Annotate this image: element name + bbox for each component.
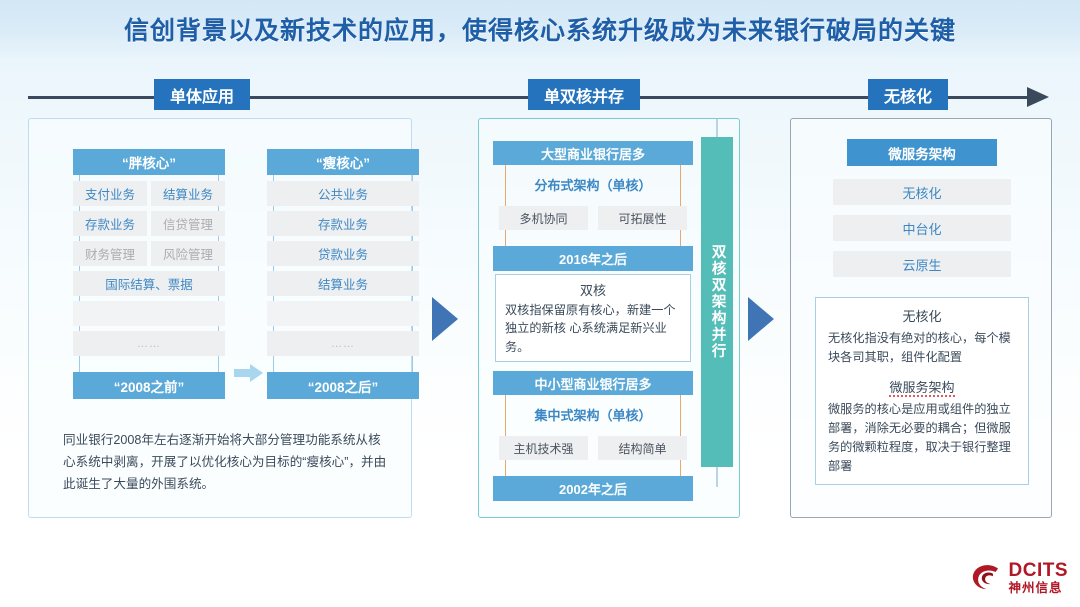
small-bank-box: 中小型商业银行居多 集中式架构（单核） 主机技术强 结构简单 2002年之后 [493, 371, 693, 501]
small-bank-box-head: 中小型商业银行居多 [493, 371, 693, 395]
microservice-pill[interactable]: 云原生 [833, 251, 1011, 277]
core-column-head: “胖核心” [73, 149, 225, 175]
core-row: 财务管理 风险管理 [73, 241, 225, 266]
small-bank-box-foot: 2002年之后 [493, 476, 693, 501]
title-band: 信创背景以及新技术的应用，使得核心系统升级成为未来银行破局的关键 [0, 0, 1080, 58]
coreless-description: 无核化 无核化指没有绝对的核心，每个模块各司其职，组件化配置 微服务架构 微服务… [815, 297, 1029, 485]
logo-en-label: DCITS [1009, 561, 1069, 580]
large-bank-box-foot: 2016年之后 [493, 246, 693, 271]
large-bank-box-frame [505, 153, 681, 253]
core-column-foot: “2008之后” [267, 372, 419, 399]
core-cell-blank [267, 301, 419, 326]
dcits-mark-icon [970, 561, 1004, 595]
coreless-text-2: 微服务的核心是应用或组件的独立部署，消除无必要的耦合；但微服务的微颗粒程度，取决… [828, 400, 1016, 476]
pill[interactable]: 多机协同 [499, 206, 588, 230]
core-cell[interactable]: 公共业务 [267, 181, 419, 206]
coreless-title: 无核化 [828, 306, 1016, 325]
vertical-bar-tick-top [716, 119, 718, 137]
panel-transition-arrow-2-icon [748, 297, 774, 341]
large-bank-box: 大型商业银行居多 分布式架构（单核） 多机协同 可拓展性 2016年之后 [493, 141, 693, 271]
small-bank-box-pills: 主机技术强 结构简单 [493, 436, 693, 460]
core-column-rows: 支付业务 结算业务 存款业务 信贷管理 财务管理 风险管理 国际结算、票据 …… [73, 181, 225, 356]
large-bank-box-subtitle: 分布式架构（单核） [493, 175, 693, 194]
core-column-thin: “瘦核心” 公共业务 存款业务 贷款业务 结算业务 …… “2008之后” [267, 149, 419, 399]
panel-monolithic-note: 同业银行2008年左右逐渐开始将大部分管理功能系统从核心系统中剥离，开展了以优化… [63, 429, 393, 495]
core-cell[interactable]: 贷款业务 [267, 241, 419, 266]
large-bank-box-pills: 多机协同 可拓展性 [493, 206, 693, 230]
logo-cn-label: 神州信息 [1009, 582, 1069, 595]
coreless-subtitle: 微服务架构 [828, 377, 1016, 396]
core-row: …… [267, 331, 419, 356]
core-row: 结算业务 [267, 271, 419, 296]
core-cell[interactable]: 结算业务 [151, 181, 225, 206]
coreless-subtitle-label: 微服务架构 [889, 380, 954, 397]
core-row: 公共业务 [267, 181, 419, 206]
dual-core-text: 双核指保留原有核心，新建一个独立的新核 心系统满足新兴业务。 [505, 301, 681, 356]
small-bank-box-subtitle: 集中式架构（单核） [493, 405, 693, 424]
pill[interactable]: 结构简单 [598, 436, 687, 460]
core-column-rows: 公共业务 存款业务 贷款业务 结算业务 …… [267, 181, 419, 356]
timeline: 单体应用 单双核并存 无核化 [28, 96, 1058, 100]
logo-text: DCITS 神州信息 [1009, 561, 1069, 595]
core-cell[interactable]: 信贷管理 [151, 211, 225, 236]
core-row: 支付业务 结算业务 [73, 181, 225, 206]
core-column-head: “瘦核心” [267, 149, 419, 175]
timeline-stage-1[interactable]: 单体应用 [154, 79, 250, 110]
pill[interactable]: 主机技术强 [499, 436, 588, 460]
core-row [267, 301, 419, 326]
core-cell-blank [73, 301, 225, 326]
core-cell[interactable]: 国际结算、票据 [73, 271, 225, 296]
page-title: 信创背景以及新技术的应用，使得核心系统升级成为未来银行破局的关键 [124, 11, 956, 47]
core-cell-ellipsis: …… [73, 331, 225, 356]
coreless-text-1: 无核化指没有绝对的核心，每个模块各司其职，组件化配置 [828, 329, 1016, 367]
company-logo: DCITS 神州信息 [970, 561, 1069, 595]
microservice-head: 微服务架构 [847, 139, 997, 166]
transition-arrow-icon [234, 362, 264, 384]
core-cell[interactable]: 存款业务 [267, 211, 419, 236]
core-column-foot: “2008之前” [73, 372, 225, 399]
core-cell[interactable]: 风险管理 [151, 241, 225, 266]
vertical-bar-dual-architecture: 双核双架构并行 [701, 137, 733, 467]
timeline-stage-3[interactable]: 无核化 [868, 79, 948, 110]
core-row: 存款业务 [267, 211, 419, 236]
dual-core-description: 双核 双核指保留原有核心，新建一个独立的新核 心系统满足新兴业务。 [495, 274, 691, 362]
panel-coreless: 微服务架构 无核化 中台化 云原生 无核化 无核化指没有绝对的核心，每个模块各司… [790, 118, 1052, 518]
core-cell[interactable]: 存款业务 [73, 211, 147, 236]
large-bank-box-head: 大型商业银行居多 [493, 141, 693, 165]
small-bank-box-frame [505, 383, 681, 483]
core-cell[interactable]: 财务管理 [73, 241, 147, 266]
vertical-bar-label: 双核双架构并行 [709, 244, 724, 360]
timeline-arrow-icon [1027, 87, 1049, 107]
panel-dual-core: 大型商业银行居多 分布式架构（单核） 多机协同 可拓展性 2016年之后 双核 … [478, 118, 740, 518]
microservice-pill[interactable]: 中台化 [833, 215, 1011, 241]
timeline-stage-2[interactable]: 单双核并存 [528, 79, 640, 110]
core-column-fat: “胖核心” 支付业务 结算业务 存款业务 信贷管理 财务管理 风险管理 国际结算… [73, 149, 225, 399]
core-cell-ellipsis: …… [267, 331, 419, 356]
core-row: 贷款业务 [267, 241, 419, 266]
pill[interactable]: 可拓展性 [598, 206, 687, 230]
core-cell[interactable]: 结算业务 [267, 271, 419, 296]
microservice-pill[interactable]: 无核化 [833, 179, 1011, 205]
vertical-bar-tick-bottom [716, 467, 718, 487]
panel-monolithic: “胖核心” 支付业务 结算业务 存款业务 信贷管理 财务管理 风险管理 国际结算… [28, 118, 412, 518]
core-row [73, 301, 225, 326]
core-row: …… [73, 331, 225, 356]
dual-core-title: 双核 [505, 280, 681, 299]
core-row: 国际结算、票据 [73, 271, 225, 296]
core-cell[interactable]: 支付业务 [73, 181, 147, 206]
core-row: 存款业务 信贷管理 [73, 211, 225, 236]
panel-transition-arrow-1-icon [432, 297, 458, 341]
